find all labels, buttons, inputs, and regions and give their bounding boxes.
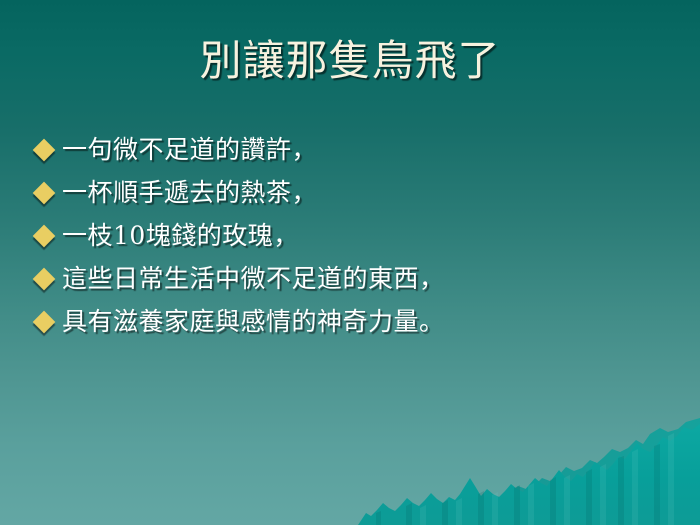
diamond-bullet-icon <box>33 138 56 161</box>
list-item-text: 這些日常生活中微不足道的東西， <box>62 266 445 291</box>
presentation-slide: 別讓那隻鳥飛了 一句微不足道的讚許， 一杯順手遞去的熱茶， 一枝10塊錢的玫瑰，… <box>0 0 700 525</box>
list-item: 這些日常生活中微不足道的東西， <box>36 257 676 300</box>
bullet-list: 一句微不足道的讚許， 一杯順手遞去的熱茶， 一枝10塊錢的玫瑰， 這些日常生活中… <box>36 128 676 343</box>
list-item-text: 具有滋養家庭與感情的神奇力量。 <box>62 309 445 334</box>
diamond-bullet-icon <box>33 224 56 247</box>
list-item: 具有滋養家庭與感情的神奇力量。 <box>36 300 676 343</box>
list-item-text: 一枝10塊錢的玫瑰， <box>62 223 299 248</box>
diamond-bullet-icon <box>33 181 56 204</box>
list-item-text: 一句微不足道的讚許， <box>62 137 317 162</box>
list-item-text: 一杯順手遞去的熱茶， <box>62 180 317 205</box>
list-item: 一杯順手遞去的熱茶， <box>36 171 676 214</box>
list-item: 一句微不足道的讚許， <box>36 128 676 171</box>
diamond-bullet-icon <box>33 310 56 333</box>
list-item: 一枝10塊錢的玫瑰， <box>36 214 676 257</box>
slide-title: 別讓那隻鳥飛了 <box>0 38 700 84</box>
diamond-bullet-icon <box>33 267 56 290</box>
